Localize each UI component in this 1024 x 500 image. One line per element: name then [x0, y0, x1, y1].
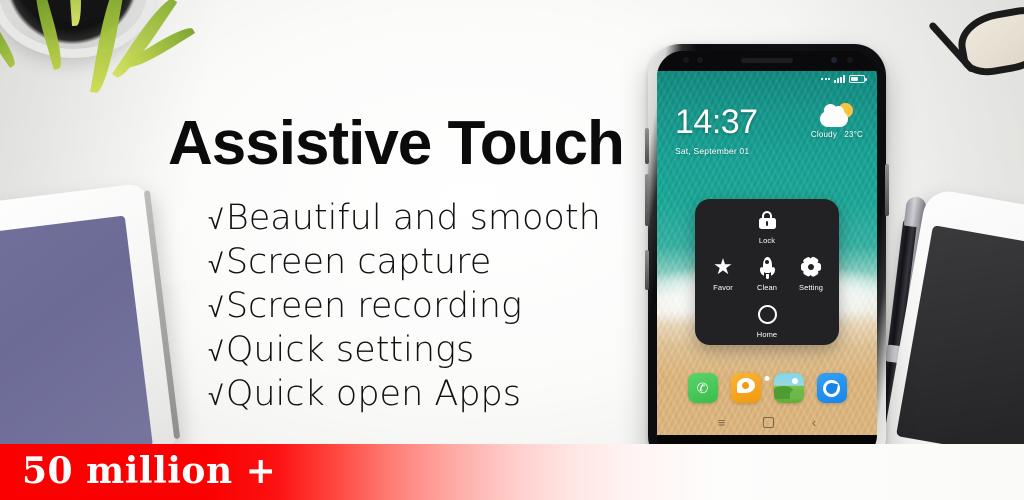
feature-label: Screen recording: [226, 284, 522, 328]
lockscreen-clock: 14:37 Sat, September 01: [675, 105, 758, 156]
check-icon: √: [208, 204, 223, 238]
feature-item: √ Quick settings: [208, 328, 601, 372]
handset-icon: ✆: [696, 381, 710, 395]
panel-item-setting[interactable]: Setting: [789, 255, 833, 292]
clock-time: 14:37: [675, 105, 758, 139]
back-button[interactable]: ‹: [812, 416, 816, 429]
signal-bars-icon: [834, 75, 845, 83]
sun-behind-cloud-icon: [820, 103, 854, 127]
phone-status-bar: [657, 71, 877, 87]
gear-icon: [789, 255, 833, 279]
home-dock: ✆: [657, 373, 877, 409]
feature-item: √ Screen capture: [208, 240, 601, 284]
feature-label: Beautiful and smooth: [226, 196, 601, 240]
sun-icon: [792, 378, 798, 384]
install-count-label: 50 million +: [22, 450, 276, 492]
panel-item-label: Favor: [701, 283, 745, 292]
phone-bixby-button: [645, 250, 649, 290]
recents-button[interactable]: ≡: [718, 416, 726, 429]
hill-icon: [790, 389, 804, 399]
clock-date: Sat, September 01: [675, 146, 758, 156]
white-smartphone-screen: [896, 225, 1024, 461]
potted-plant: [0, 0, 194, 164]
led-indicator-icon: [847, 57, 853, 63]
phone-volume-down-button: [645, 174, 649, 226]
panel-row-top: Lock: [701, 208, 833, 245]
galaxy-phone-mockup: 14:37 Sat, September 01 Cloudy 23°C: [648, 44, 886, 468]
check-icon: √: [208, 336, 223, 370]
page-title: Assistive Touch: [168, 108, 624, 179]
home-square-icon[interactable]: [763, 417, 774, 428]
star-icon: ★: [701, 255, 745, 279]
beach-wallpaper: 14:37 Sat, September 01 Cloudy 23°C: [657, 71, 877, 435]
feature-item: √ Screen recording: [208, 284, 601, 328]
panel-item-lock[interactable]: Lock: [745, 208, 789, 245]
circle-icon: [745, 302, 789, 326]
panel-item-label: Home: [745, 330, 789, 339]
check-icon: √: [208, 380, 223, 414]
panel-item-label: Lock: [745, 236, 789, 245]
cloud-icon: [820, 111, 848, 127]
front-camera-icon: [831, 57, 837, 63]
panel-item-label: Setting: [789, 283, 833, 292]
panel-item-label: Clean: [745, 283, 789, 292]
rocket-icon: [745, 255, 789, 279]
weather-condition: Cloudy: [811, 130, 837, 139]
check-icon: √: [208, 292, 223, 326]
panel-row-bottom: Home: [701, 302, 833, 339]
earpiece-speaker: [741, 58, 793, 63]
white-tablet: [0, 183, 179, 478]
feature-item: √ Quick open Apps: [208, 372, 601, 416]
feature-label: Screen capture: [226, 240, 491, 284]
phone-top-bezel: [657, 51, 877, 71]
phone-app-icon[interactable]: ✆: [688, 373, 718, 403]
install-count-banner: 50 million +: [0, 444, 1024, 500]
phone-display: 14:37 Sat, September 01 Cloudy 23°C: [657, 51, 877, 461]
promo-banner-image: Assistive Touch √ Beautiful and smooth √…: [0, 0, 1024, 500]
feature-item: √ Beautiful and smooth: [208, 196, 601, 240]
panel-item-home[interactable]: Home: [745, 302, 789, 339]
battery-icon: [849, 75, 865, 83]
messages-app-icon[interactable]: [731, 373, 761, 403]
speech-bubble-icon: [737, 378, 755, 393]
android-nav-bar: ≡ ‹: [657, 411, 877, 433]
tablet-screen: [0, 216, 153, 470]
check-icon: √: [208, 248, 223, 282]
proximity-sensor-icon: [697, 57, 703, 63]
eyeglasses-lens: [954, 3, 1024, 80]
browser-app-icon[interactable]: [817, 373, 847, 403]
iris-scanner-icon: [683, 57, 689, 63]
assistive-touch-panel[interactable]: Lock ★ Favor Clean: [695, 199, 839, 345]
feature-label: Quick open Apps: [226, 372, 521, 416]
lock-icon: [745, 208, 789, 232]
signal-dots-icon: [821, 78, 830, 80]
panel-item-favor[interactable]: ★ Favor: [701, 255, 745, 292]
compass-icon: [823, 380, 840, 397]
panel-item-clean[interactable]: Clean: [745, 255, 789, 292]
panel-row-middle: ★ Favor Clean: [701, 255, 833, 292]
weather-temperature: 23°C: [844, 130, 863, 139]
feature-list: √ Beautiful and smooth √ Screen capture …: [208, 196, 601, 416]
phone-power-button: [885, 164, 889, 216]
weather-text: Cloudy 23°C: [811, 130, 863, 139]
weather-widget[interactable]: Cloudy 23°C: [811, 103, 863, 139]
gallery-app-icon[interactable]: [774, 373, 804, 403]
phone-volume-up-button: [645, 128, 649, 164]
feature-label: Quick settings: [226, 328, 474, 372]
